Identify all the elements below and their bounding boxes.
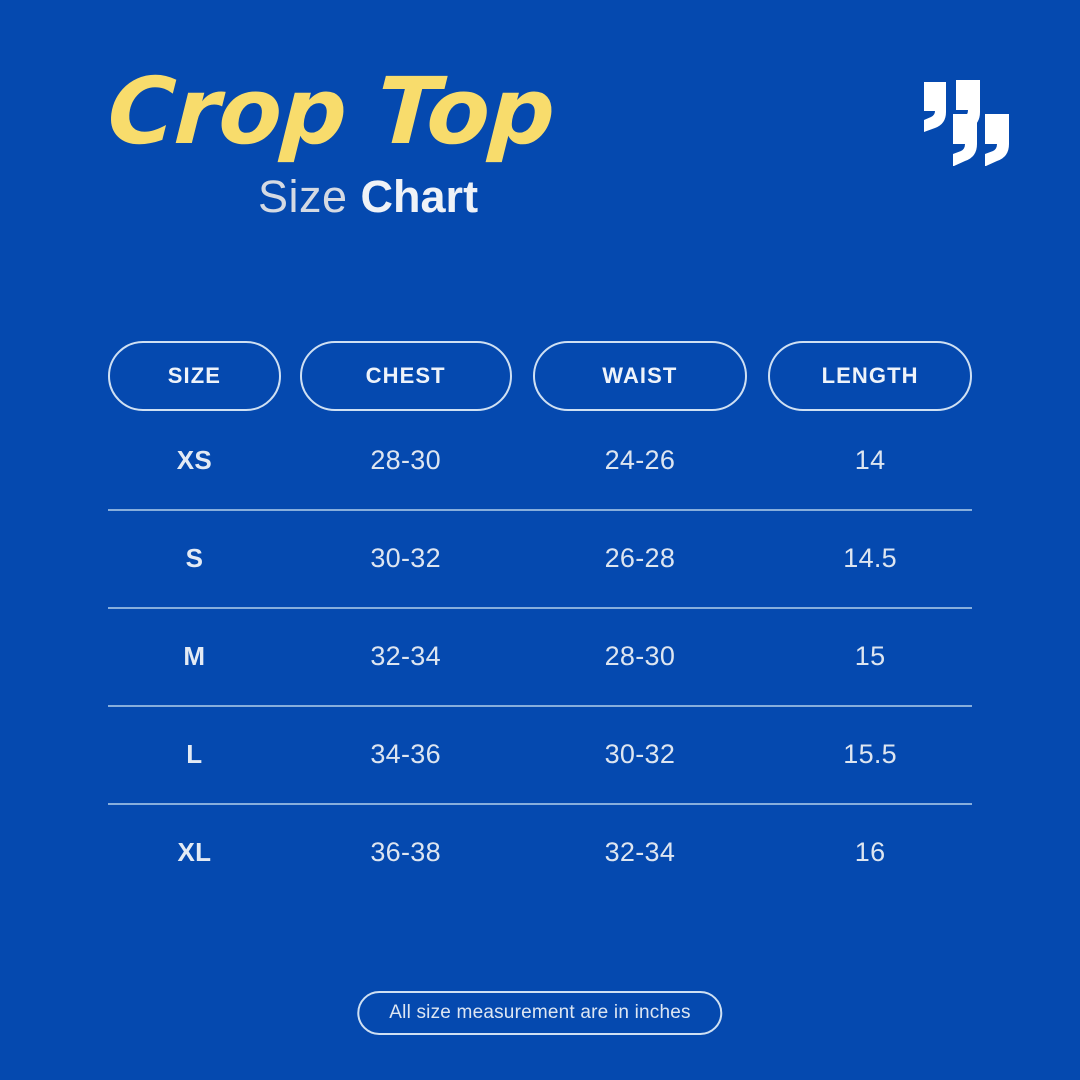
cell-size: L (108, 739, 281, 770)
size-table: SIZE CHEST WAIST LENGTH XS 28-30 24-26 1… (108, 341, 972, 901)
cell-length: 15 (768, 641, 972, 672)
column-header-waist[interactable]: WAIST (533, 341, 748, 411)
subtitle-word-chart: Chart (361, 171, 479, 222)
cell-length: 14 (768, 445, 972, 476)
cell-chest: 28-30 (300, 445, 512, 476)
column-header-length[interactable]: LENGTH (768, 341, 972, 411)
measurement-unit-note: All size measurement are in inches (357, 991, 722, 1035)
quotation-marks-icon (920, 78, 1012, 168)
table-header-row: SIZE CHEST WAIST LENGTH (108, 341, 972, 411)
cell-waist: 24-26 (533, 445, 748, 476)
cell-size: XS (108, 445, 281, 476)
table-row: XS 28-30 24-26 14 (108, 411, 972, 509)
cell-waist: 28-30 (533, 641, 748, 672)
cell-chest: 34-36 (300, 739, 512, 770)
cell-length: 16 (768, 837, 972, 868)
cell-size: S (108, 543, 281, 574)
cell-length: 14.5 (768, 543, 972, 574)
cell-waist: 30-32 (533, 739, 748, 770)
table-body: XS 28-30 24-26 14 S 30-32 26-28 14.5 M 3… (108, 411, 972, 901)
cell-size: XL (108, 837, 281, 868)
column-header-chest[interactable]: CHEST (300, 341, 512, 411)
table-row: L 34-36 30-32 15.5 (108, 705, 972, 803)
page-title: Crop Top (105, 62, 556, 161)
column-header-size[interactable]: SIZE (108, 341, 281, 411)
size-chart-poster: Crop Top Size Chart SIZE CHEST WAIST LEN… (0, 0, 1080, 1080)
cell-size: M (108, 641, 281, 672)
table-row: M 32-34 28-30 15 (108, 607, 972, 705)
cell-chest: 30-32 (300, 543, 512, 574)
cell-chest: 32-34 (300, 641, 512, 672)
cell-length: 15.5 (768, 739, 972, 770)
cell-waist: 26-28 (533, 543, 748, 574)
cell-waist: 32-34 (533, 837, 748, 868)
subtitle-word-size: Size (258, 171, 361, 222)
page-subtitle: Size Chart (258, 172, 478, 222)
cell-chest: 36-38 (300, 837, 512, 868)
table-row: S 30-32 26-28 14.5 (108, 509, 972, 607)
table-row: XL 36-38 32-34 16 (108, 803, 972, 901)
header: Crop Top Size Chart (0, 0, 1080, 300)
